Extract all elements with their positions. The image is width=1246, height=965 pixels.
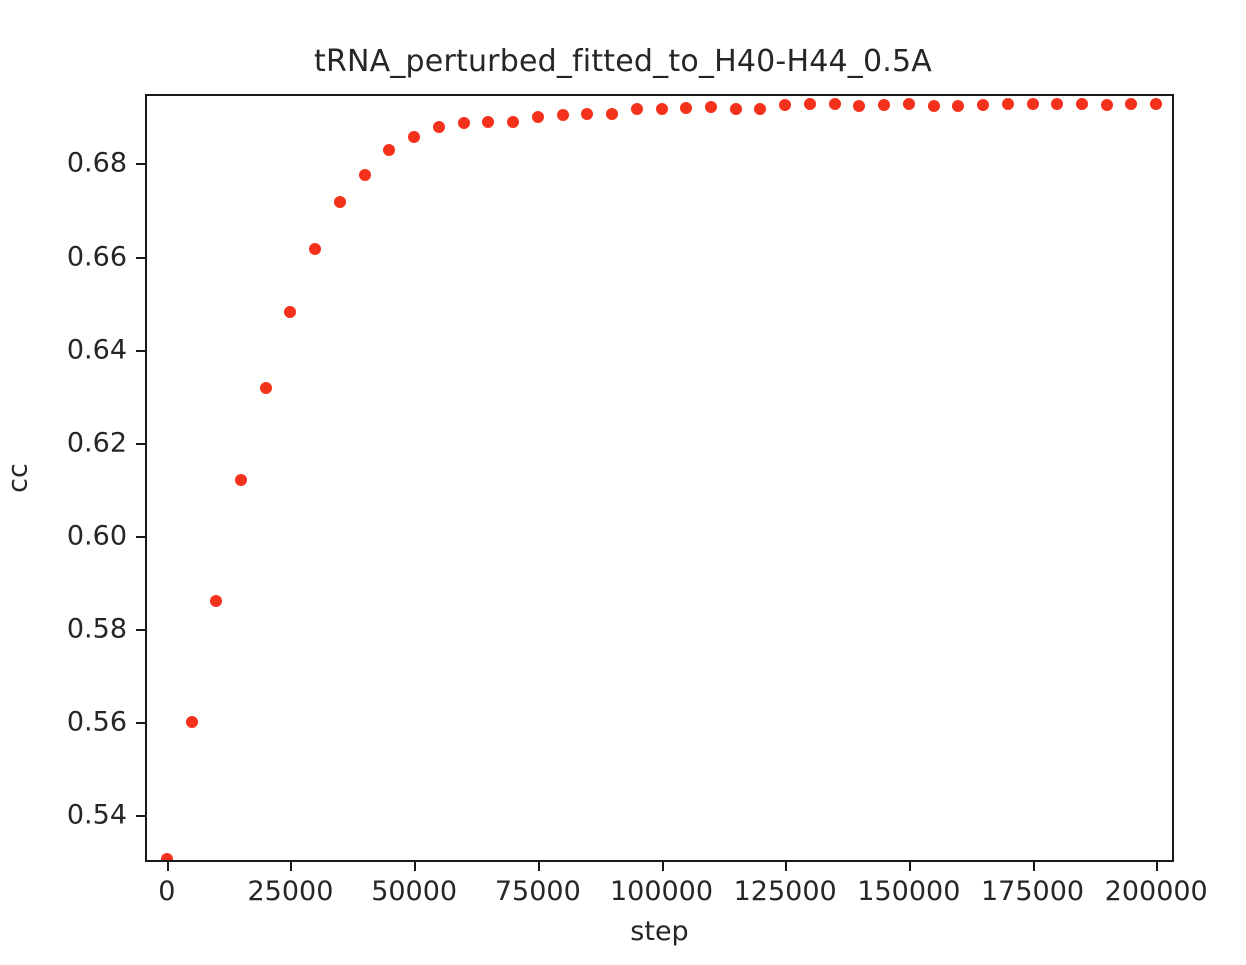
y-tick-mark <box>136 257 147 259</box>
data-point <box>186 716 198 728</box>
data-point <box>482 116 494 128</box>
y-tick-mark <box>136 722 147 724</box>
y-tick-mark <box>136 443 147 445</box>
plot-area: 0.540.560.580.600.620.640.660.68 0250005… <box>145 94 1174 862</box>
x-tick-label: 100000 <box>610 876 713 907</box>
x-tick-mark <box>785 860 787 871</box>
x-axis-label: step <box>145 916 1174 947</box>
x-tick-label: 75000 <box>495 876 581 907</box>
data-point <box>730 103 742 115</box>
figure-canvas: tRNA_perturbed_fitted_to_H40-H44_0.5A 0.… <box>0 0 1246 965</box>
y-tick-label: 0.68 <box>67 148 127 179</box>
x-tick-mark <box>1033 860 1035 871</box>
data-point <box>532 111 544 123</box>
data-point <box>977 99 989 111</box>
data-point <box>507 116 519 128</box>
y-tick-mark <box>136 536 147 538</box>
data-point <box>359 169 371 181</box>
scatter-series-cc <box>147 96 1172 860</box>
data-point <box>235 474 247 486</box>
data-point <box>1150 98 1162 110</box>
data-point <box>161 853 173 860</box>
y-tick-label: 0.64 <box>67 334 127 365</box>
y-tick-label: 0.58 <box>67 613 127 644</box>
data-point <box>284 306 296 318</box>
data-point <box>458 117 470 129</box>
y-tick-mark <box>136 815 147 817</box>
data-point <box>853 100 865 112</box>
data-point <box>779 99 791 111</box>
data-point <box>1101 99 1113 111</box>
y-tick-label: 0.54 <box>67 800 127 831</box>
data-point <box>1076 98 1088 110</box>
x-tick-label: 25000 <box>248 876 334 907</box>
data-point <box>210 595 222 607</box>
data-point <box>705 101 717 113</box>
x-tick-label: 175000 <box>981 876 1084 907</box>
data-point <box>680 102 692 114</box>
data-point <box>606 108 618 120</box>
data-point <box>433 121 445 133</box>
data-point <box>260 382 272 394</box>
data-point <box>408 131 420 143</box>
data-point <box>1002 98 1014 110</box>
y-tick-label: 0.62 <box>67 427 127 458</box>
x-tick-mark <box>414 860 416 871</box>
data-point <box>631 103 643 115</box>
data-point <box>557 109 569 121</box>
data-point <box>334 196 346 208</box>
y-axis-label: cc <box>3 463 34 493</box>
data-point <box>928 100 940 112</box>
data-point <box>878 99 890 111</box>
data-point <box>829 98 841 110</box>
y-tick-mark <box>136 350 147 352</box>
data-point <box>1125 98 1137 110</box>
x-tick-mark <box>662 860 664 871</box>
data-point <box>952 100 964 112</box>
x-tick-label: 50000 <box>371 876 457 907</box>
x-tick-mark <box>167 860 169 871</box>
x-tick-mark <box>1156 860 1158 871</box>
x-tick-label: 200000 <box>1105 876 1208 907</box>
data-point <box>581 108 593 120</box>
data-point <box>804 98 816 110</box>
y-tick-label: 0.60 <box>67 520 127 551</box>
y-tick-mark <box>136 629 147 631</box>
data-point <box>309 243 321 255</box>
y-tick-mark <box>136 163 147 165</box>
data-point <box>656 103 668 115</box>
x-tick-label: 125000 <box>734 876 837 907</box>
data-point <box>903 98 915 110</box>
data-point <box>1027 98 1039 110</box>
x-tick-label: 150000 <box>857 876 960 907</box>
x-tick-label: 0 <box>158 876 175 907</box>
x-tick-mark <box>538 860 540 871</box>
page-title: tRNA_perturbed_fitted_to_H40-H44_0.5A <box>0 44 1246 79</box>
y-tick-label: 0.66 <box>67 241 127 272</box>
y-tick-label: 0.56 <box>67 707 127 738</box>
data-point <box>383 144 395 156</box>
x-tick-mark <box>909 860 911 871</box>
data-point <box>754 103 766 115</box>
data-point <box>1051 98 1063 110</box>
x-tick-mark <box>290 860 292 871</box>
